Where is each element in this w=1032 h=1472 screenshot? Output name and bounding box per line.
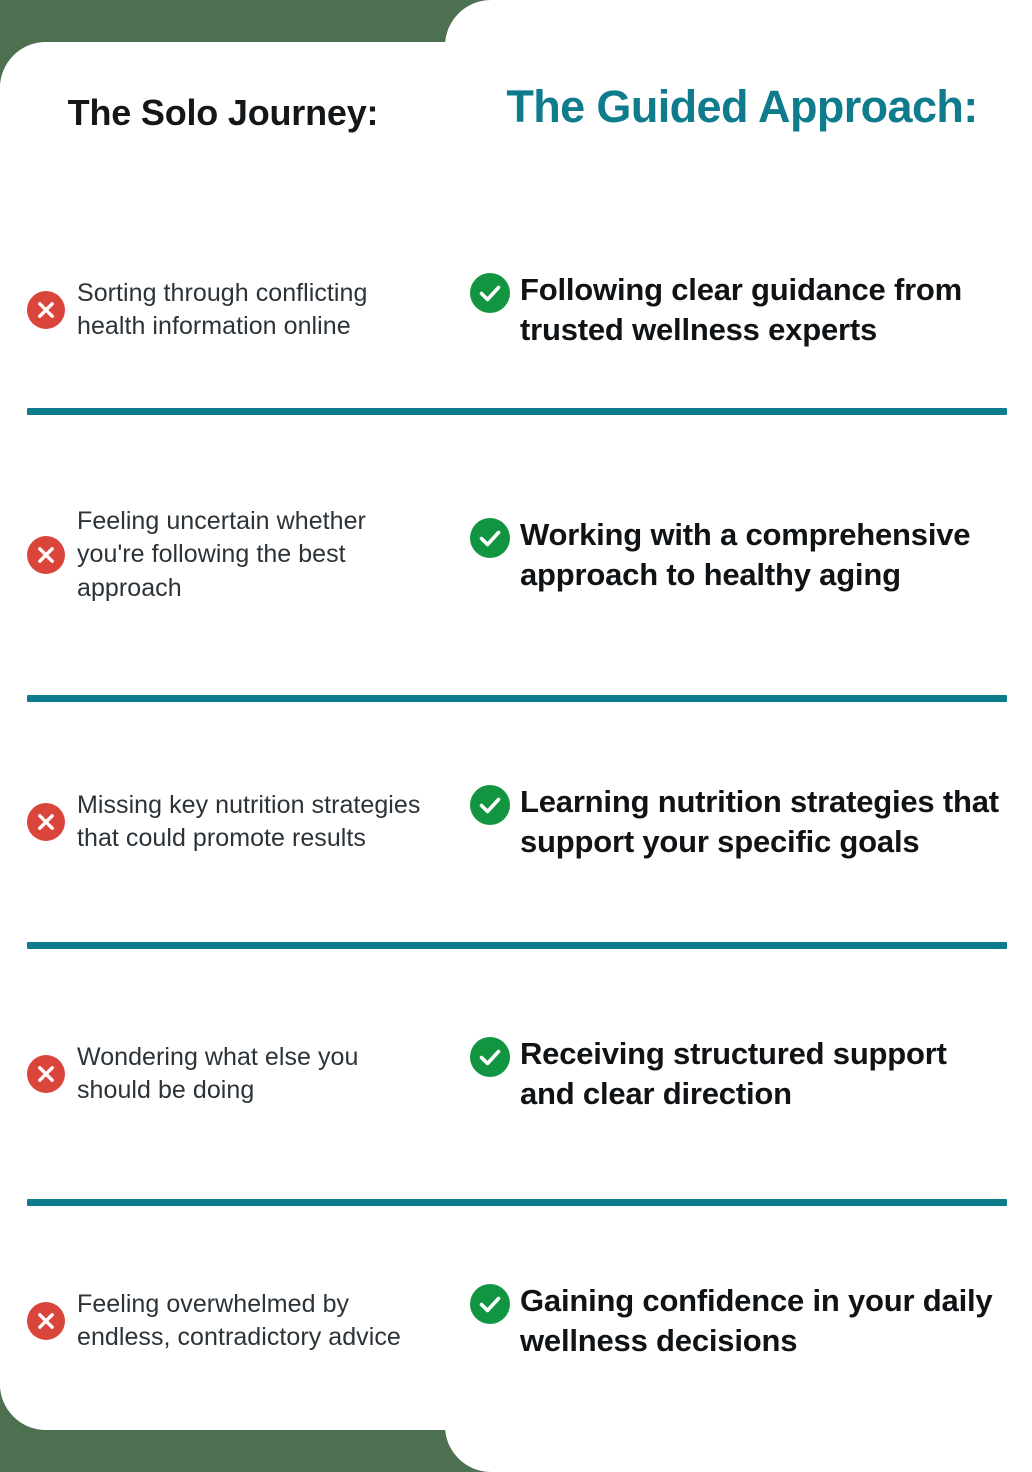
comparison-row: Wondering what else you should be doing … xyxy=(0,949,1032,1199)
cross-circle-icon xyxy=(27,1302,65,1340)
comparison-graphic: The Solo Journey: The Guided Approach: S… xyxy=(0,0,1032,1472)
solo-journey-cell: Missing key nutrition strategies that co… xyxy=(0,702,445,942)
guided-approach-text: Gaining confidence in your daily wellnes… xyxy=(520,1281,1002,1362)
row-divider xyxy=(27,695,1007,702)
guided-approach-cell: Gaining confidence in your daily wellnes… xyxy=(445,1206,1032,1436)
check-circle-icon xyxy=(470,785,510,825)
solo-journey-cell: Sorting through conflicting health infor… xyxy=(0,212,445,408)
solo-journey-text: Sorting through conflicting health infor… xyxy=(77,277,425,344)
guided-approach-cell: Learning nutrition strategies that suppo… xyxy=(445,702,1032,942)
guided-approach-heading: The Guided Approach: xyxy=(472,80,1012,133)
solo-journey-heading: The Solo Journey: xyxy=(28,92,418,134)
row-divider xyxy=(27,1199,1007,1206)
comparison-row: Feeling uncertain whether you're followi… xyxy=(0,415,1032,695)
guided-approach-cell: Working with a comprehensive approach to… xyxy=(445,415,1032,695)
guided-approach-cell: Following clear guidance from trusted we… xyxy=(445,212,1032,408)
check-circle-icon xyxy=(470,273,510,313)
guided-approach-text: Learning nutrition strategies that suppo… xyxy=(520,782,1002,863)
column-headings: The Solo Journey: The Guided Approach: xyxy=(0,80,1032,210)
solo-journey-text: Feeling overwhelmed by endless, contradi… xyxy=(77,1288,425,1355)
cross-circle-icon xyxy=(27,1055,65,1093)
cross-circle-icon xyxy=(27,536,65,574)
check-circle-icon xyxy=(470,1037,510,1077)
guided-approach-cell: Receiving structured support and clear d… xyxy=(445,949,1032,1199)
comparison-row: Missing key nutrition strategies that co… xyxy=(0,702,1032,942)
solo-journey-text: Wondering what else you should be doing xyxy=(77,1041,425,1108)
check-circle-icon xyxy=(470,1284,510,1324)
solo-journey-cell: Feeling overwhelmed by endless, contradi… xyxy=(0,1206,445,1436)
cross-circle-icon xyxy=(27,803,65,841)
check-circle-icon xyxy=(470,518,510,558)
row-divider xyxy=(27,408,1007,415)
cross-circle-icon xyxy=(27,291,65,329)
solo-journey-text: Feeling uncertain whether you're followi… xyxy=(77,505,425,606)
comparison-row: Sorting through conflicting health infor… xyxy=(0,212,1032,408)
guided-approach-text: Receiving structured support and clear d… xyxy=(520,1034,1002,1115)
solo-journey-cell: Wondering what else you should be doing xyxy=(0,949,445,1199)
guided-approach-text: Working with a comprehensive approach to… xyxy=(520,515,1002,596)
comparison-row: Feeling overwhelmed by endless, contradi… xyxy=(0,1206,1032,1436)
guided-approach-text: Following clear guidance from trusted we… xyxy=(520,270,1002,351)
row-divider xyxy=(27,942,1007,949)
solo-journey-text: Missing key nutrition strategies that co… xyxy=(77,789,425,856)
comparison-rows: Sorting through conflicting health infor… xyxy=(0,212,1032,1436)
solo-journey-cell: Feeling uncertain whether you're followi… xyxy=(0,415,445,695)
